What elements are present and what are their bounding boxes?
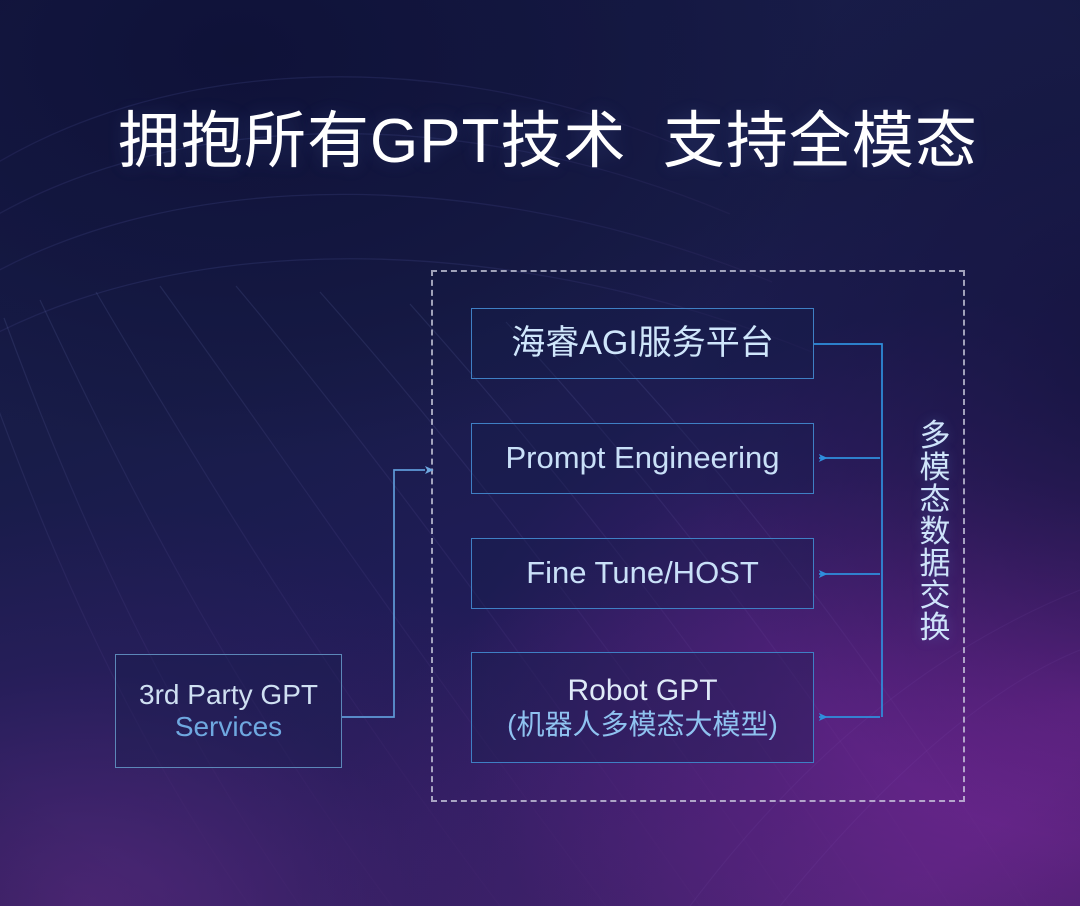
node-platform[interactable]: 海睿AGI服务平台	[471, 308, 814, 379]
vertical-label-multimodal-data-exchange: 多模态数据交换	[915, 420, 955, 643]
slide-canvas: 拥抱所有GPT技术 支持全模态 海睿AGI服务平台 Prompt Engi	[0, 0, 1080, 906]
node-thirdparty-sublabel: Services	[175, 711, 282, 743]
vertical-label-char-3: 数	[915, 516, 955, 548]
node-finetune-label: Fine Tune/HOST	[526, 556, 759, 591]
vertical-label-char-6: 换	[915, 612, 955, 644]
vertical-label-char-1: 模	[915, 452, 955, 484]
node-robot-label: Robot GPT	[567, 674, 717, 708]
node-fine-tune-host[interactable]: Fine Tune/HOST	[471, 538, 814, 609]
vertical-label-char-5: 交	[915, 580, 955, 612]
node-thirdparty-label: 3rd Party GPT	[139, 679, 318, 710]
vertical-label-char-2: 态	[915, 484, 955, 516]
page-title: 拥抱所有GPT技术 支持全模态	[118, 111, 978, 173]
node-robot-sublabel: (机器人多模态大模型)	[507, 709, 778, 741]
node-third-party-gpt-services[interactable]: 3rd Party GPT Services	[115, 654, 342, 768]
node-platform-label: 海睿AGI服务平台	[511, 324, 774, 362]
node-robot-gpt[interactable]: Robot GPT (机器人多模态大模型)	[471, 652, 814, 763]
node-prompt-engineering[interactable]: Prompt Engineering	[471, 423, 814, 494]
vertical-label-char-0: 多	[915, 420, 955, 452]
vertical-label-char-4: 据	[915, 548, 955, 580]
node-prompt-label: Prompt Engineering	[506, 441, 780, 476]
